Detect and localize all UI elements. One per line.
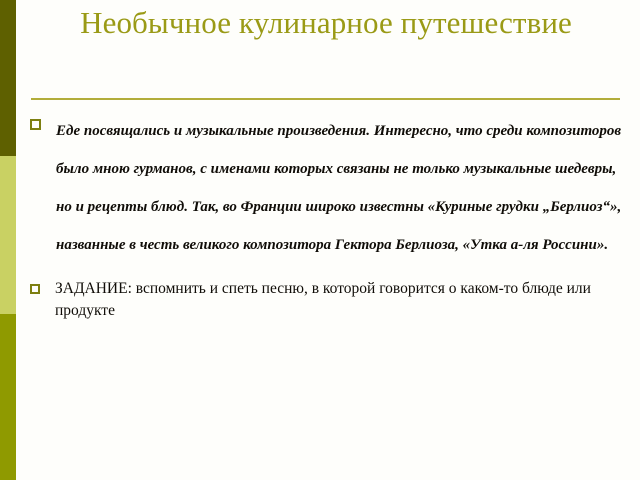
hollow-square-bullet-icon bbox=[30, 112, 41, 130]
slide-canvas: Необычное кулинарное путешествие Еде пос… bbox=[0, 0, 640, 480]
decorative-band-top bbox=[0, 0, 16, 156]
title-divider-rule bbox=[31, 98, 620, 100]
body-content: Еде посвящались и музыкальные произведен… bbox=[30, 112, 630, 322]
bullet-text-wrapper: ЗАДАНИЕ: вспомнить и спеть песню, в кото… bbox=[49, 278, 630, 322]
slide-title: Необычное кулинарное путешествие bbox=[30, 2, 622, 43]
decorative-band-middle bbox=[0, 156, 16, 314]
hollow-square-bullet-icon bbox=[30, 278, 40, 294]
bullet-paragraph-2: ЗАДАНИЕ: вспомнить и спеть песню, в кото… bbox=[49, 278, 630, 322]
title-block: Необычное кулинарное путешествие bbox=[30, 2, 622, 43]
decorative-band-bottom bbox=[0, 314, 16, 480]
bullet-text-wrapper: Еде посвящались и музыкальные произведен… bbox=[50, 112, 630, 264]
bullet-paragraph-1: Еде посвящались и музыкальные произведен… bbox=[50, 112, 630, 264]
list-item: ЗАДАНИЕ: вспомнить и спеть песню, в кото… bbox=[30, 278, 630, 322]
list-item: Еде посвящались и музыкальные произведен… bbox=[30, 112, 630, 264]
